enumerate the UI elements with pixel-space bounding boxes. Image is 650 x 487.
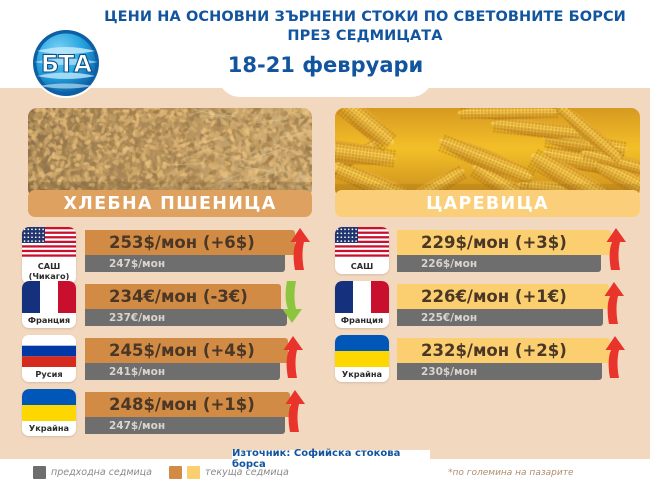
current-week-bar: 253$/мон (+6$) — [85, 230, 295, 255]
previous-week-bar: 247$/мон — [85, 417, 285, 434]
svg-text:БТА: БТА — [41, 50, 93, 78]
country-label: Франция — [22, 313, 76, 328]
source-text: Източник: Софийска стокова борса — [232, 448, 430, 470]
section-title-corn: ЦАРЕВИЦА — [426, 194, 549, 214]
current-price-text: 234€/мон (-3€) — [85, 287, 248, 306]
price-row: САШ229$/мон (+3$)226$/мон — [325, 225, 650, 279]
price-row: Украйна232$/мон (+2$)230$/мон — [325, 333, 650, 387]
trend-up-arrow-icon — [280, 331, 314, 381]
previous-price-text: 225€/мон — [397, 312, 477, 324]
source-badge: Източник: Софийска стокова борса — [232, 450, 430, 468]
date-range-text: 18-21 февруари — [228, 51, 423, 78]
current-week-bar: 232$/мон (+2$) — [397, 338, 610, 363]
current-price-text: 245$/мон (+4$) — [85, 341, 255, 360]
flag-france — [335, 281, 389, 313]
country-label: Русия — [22, 367, 76, 382]
previous-price-text: 237€/мон — [85, 312, 165, 324]
rows-corn: САШ229$/мон (+3$)226$/монФранция226€/мон… — [325, 225, 650, 387]
trend-up-arrow-icon — [282, 385, 316, 435]
previous-price-text: 230$/мон — [397, 366, 477, 378]
price-row: САШ(Чикаго)253$/мон (+6$)247$/мон — [0, 225, 325, 279]
corn-cobs-photo — [335, 108, 640, 198]
current-week-bar: 234€/мон (-3€) — [85, 284, 281, 309]
trend-up-arrow-icon — [603, 223, 637, 273]
current-price-text: 229$/мон (+3$) — [397, 233, 567, 252]
flag-russia — [22, 335, 76, 367]
infographic-page: ЦЕНИ НА ОСНОВНИ ЗЪРНЕНИ СТОКИ ПО СВЕТОВН… — [0, 0, 650, 487]
section-header-wheat: ХЛЕБНА ПШЕНИЦА — [28, 190, 312, 217]
trend-up-arrow-icon — [287, 223, 321, 273]
page-title: ЦЕНИ НА ОСНОВНИ ЗЪРНЕНИ СТОКИ ПО СВЕТОВН… — [95, 8, 635, 46]
current-price-text: 248$/мон (+1$) — [85, 395, 255, 414]
flag-ukraine — [335, 335, 389, 367]
price-row: Украйна248$/мон (+1$)247$/мон — [0, 387, 325, 441]
country-label: Франция — [335, 313, 389, 328]
country-badge-саш: САШ — [335, 227, 389, 274]
flag-france — [22, 281, 76, 313]
country-badge-украйна: Украйна — [335, 335, 389, 382]
legend-swatch-current-corn — [187, 466, 200, 479]
legend-swatch-current-wheat — [169, 466, 182, 479]
previous-week-bar: 237€/мон — [85, 309, 287, 326]
legend-label-previous: предходна седмица — [51, 467, 152, 478]
previous-price-text: 247$/мон — [85, 420, 165, 432]
current-week-bar: 229$/мон (+3$) — [397, 230, 611, 255]
price-row: Франция234€/мон (-3€)237€/мон — [0, 279, 325, 333]
legend-swatch-previous — [33, 466, 46, 479]
section-title-wheat: ХЛЕБНА ПШЕНИЦА — [63, 194, 276, 214]
previous-week-bar: 226$/мон — [397, 255, 601, 272]
page-title-line2: ПРЕЗ СЕДМИЦАТА — [95, 27, 635, 46]
date-range-badge: 18-21 февруари — [218, 51, 433, 97]
flag-usa — [335, 227, 389, 259]
price-row: Русия245$/мон (+4$)241$/мон — [0, 333, 325, 387]
current-price-text: 226€/мон (+1€) — [397, 287, 567, 306]
wheat-grain-photo — [28, 108, 312, 198]
country-badge-украйна: Украйна — [22, 389, 76, 436]
country-label: САШ — [335, 259, 389, 274]
flag-usa — [22, 227, 76, 259]
previous-price-text: 247$/мон — [85, 258, 165, 270]
footnote: *по големина на пазарите — [448, 468, 573, 478]
previous-week-bar: 241$/мон — [85, 363, 280, 380]
previous-week-bar: 247$/мон — [85, 255, 285, 272]
previous-price-text: 226$/мон — [397, 258, 477, 270]
previous-price-text: 241$/мон — [85, 366, 165, 378]
country-badge-франция: Франция — [335, 281, 389, 328]
current-week-bar: 245$/мон (+4$) — [85, 338, 288, 363]
previous-week-bar: 225€/мон — [397, 309, 603, 326]
current-price-text: 232$/мон (+2$) — [397, 341, 567, 360]
country-label: САШ — [22, 259, 76, 271]
current-price-text: 253$/мон (+6$) — [85, 233, 255, 252]
flag-ukraine — [22, 389, 76, 421]
country-badge-саш: САШ(Чикаго) — [22, 227, 76, 284]
current-week-bar: 226€/мон (+1€) — [397, 284, 609, 309]
country-label: Украйна — [335, 367, 389, 382]
section-header-corn: ЦАРЕВИЦА — [335, 190, 640, 217]
current-week-bar: 248$/мон (+1$) — [85, 392, 290, 417]
previous-week-bar: 230$/мон — [397, 363, 602, 380]
country-label: Украйна — [22, 421, 76, 436]
country-badge-русия: Русия — [22, 335, 76, 382]
trend-up-arrow-icon — [601, 277, 635, 327]
trend-up-arrow-icon — [602, 331, 636, 381]
trend-down-arrow-icon — [279, 277, 313, 327]
country-badge-франция: Франция — [22, 281, 76, 328]
page-title-line1: ЦЕНИ НА ОСНОВНИ ЗЪРНЕНИ СТОКИ ПО СВЕТОВН… — [104, 9, 626, 25]
rows-wheat: САШ(Чикаго)253$/мон (+6$)247$/монФранция… — [0, 225, 325, 441]
bta-logo: БТА — [23, 27, 109, 99]
price-row: Франция226€/мон (+1€)225€/мон — [325, 279, 650, 333]
globe-icon: БТА — [23, 27, 109, 99]
